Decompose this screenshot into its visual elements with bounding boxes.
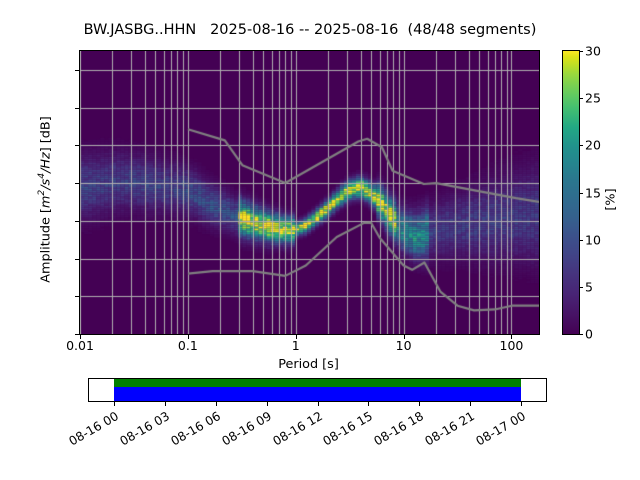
coverage-tick-label: 08-16 03 <box>111 409 172 452</box>
coverage-tick-mark <box>216 401 217 406</box>
colorbar-tick-label: 15 <box>585 185 601 200</box>
colorbar-tick-mark <box>579 51 583 52</box>
coverage-tick-label: 08-16 21 <box>416 409 477 452</box>
coverage-tick-mark <box>368 401 369 406</box>
x-tick-label: 10 <box>396 338 412 353</box>
coverage-tick-mark <box>165 401 166 406</box>
coverage-tick-label: 08-16 09 <box>213 409 274 452</box>
y-axis-label: Amplitude [m2/s4/Hz] [dB] <box>39 60 54 340</box>
coverage-tick-label: 08-16 12 <box>264 409 325 452</box>
coverage-bar-blue <box>114 387 521 401</box>
colorbar-tick-label: 20 <box>585 138 601 153</box>
coverage-tick-label: 08-16 18 <box>365 409 426 452</box>
coverage-tick-label: 08-17 00 <box>467 409 528 452</box>
y-tick-mark <box>75 108 79 109</box>
coverage-tick-mark <box>470 401 471 406</box>
x-tick-label: 0.1 <box>178 338 198 353</box>
coverage-tick-mark <box>521 401 522 406</box>
coverage-bar-green <box>114 379 521 387</box>
colorbar-tick-label: 30 <box>585 44 601 59</box>
colorbar-tick-mark <box>579 287 583 288</box>
y-tick-mark <box>75 296 79 297</box>
y-tick-mark <box>75 334 79 335</box>
coverage-tick-mark <box>267 401 268 406</box>
colorbar-tick-label: 10 <box>585 232 601 247</box>
coverage-tick-mark <box>318 401 319 406</box>
x-axis-label: Period [s] <box>79 357 538 372</box>
colorbar-tick-mark <box>579 145 583 146</box>
coverage-tick-label: 08-16 06 <box>162 409 223 452</box>
colorbar-tick-mark <box>579 334 583 335</box>
ppsd-plot-area <box>79 50 540 335</box>
ppsd-histogram-canvas <box>80 51 539 334</box>
y-tick-mark <box>75 183 79 184</box>
colorbar-tick-label: 5 <box>585 279 593 294</box>
colorbar-tick-mark <box>579 240 583 241</box>
data-coverage-timeline <box>88 378 547 402</box>
page-title: BW.JASBG..HHN 2025-08-16 -- 2025-08-16 (… <box>0 22 620 38</box>
colorbar-tick-mark <box>579 193 583 194</box>
colorbar-tick-label: 25 <box>585 91 601 106</box>
coverage-tick-mark <box>419 401 420 406</box>
x-tick-label: 100 <box>500 338 524 353</box>
ppsd-figure: BW.JASBG..HHN 2025-08-16 -- 2025-08-16 (… <box>0 0 640 480</box>
y-tick-mark <box>75 221 79 222</box>
y-tick-mark <box>75 145 79 146</box>
y-tick-mark <box>75 70 79 71</box>
x-tick-label: 0.01 <box>66 338 94 353</box>
coverage-tick-mark <box>114 401 115 406</box>
colorbar-label: [%] <box>604 160 619 240</box>
x-tick-label: 1 <box>292 338 300 353</box>
colorbar <box>562 50 580 335</box>
coverage-tick-label: 08-16 00 <box>60 409 121 452</box>
coverage-tick-label: 08-16 15 <box>315 409 376 452</box>
colorbar-tick-mark <box>579 98 583 99</box>
y-tick-mark <box>75 259 79 260</box>
colorbar-tick-label: 0 <box>585 327 593 342</box>
